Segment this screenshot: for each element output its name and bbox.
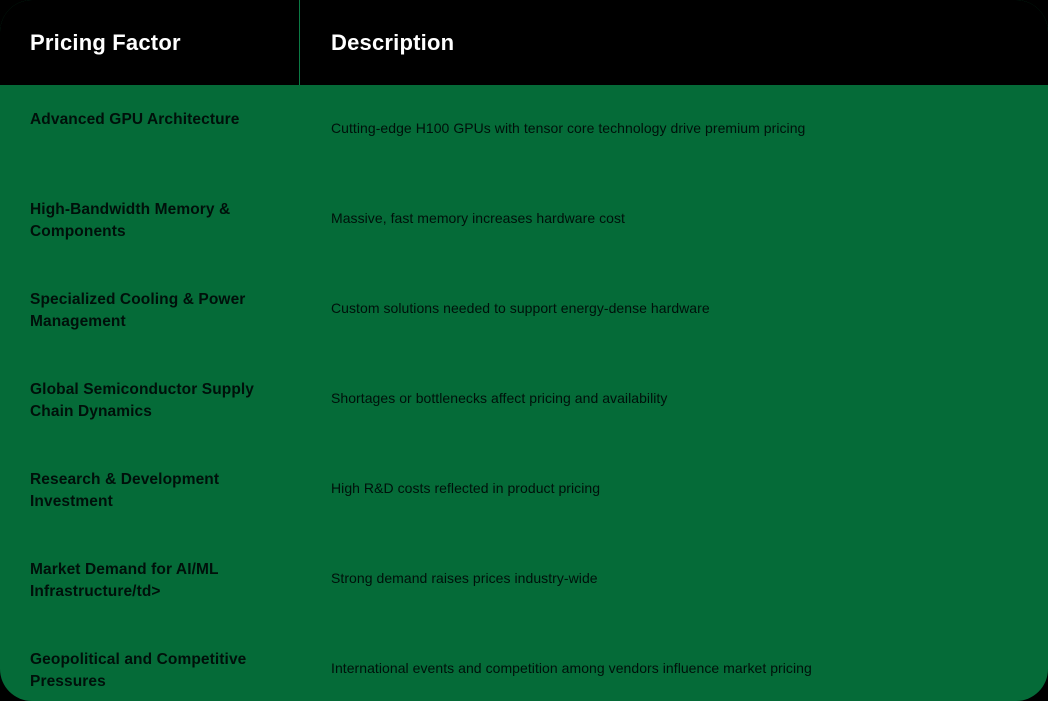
cell-description: Custom solutions needed to support energ…	[300, 265, 1048, 318]
cell-description: International events and competition amo…	[300, 625, 1048, 678]
table-body: Advanced GPU Architecture Cutting-edge H…	[0, 85, 1048, 701]
cell-pricing-factor: Specialized Cooling & Power Management	[0, 265, 300, 333]
cell-pricing-factor: Market Demand for AI/ML Infrastructure/t…	[0, 535, 300, 603]
cell-pricing-factor: High-Bandwidth Memory & Components	[0, 175, 300, 243]
cell-pricing-factor: Research & Development Investment	[0, 445, 300, 513]
cell-pricing-factor: Global Semiconductor Supply Chain Dynami…	[0, 355, 300, 423]
column-header-description: Description	[300, 0, 1048, 85]
cell-description: Strong demand raises prices industry-wid…	[300, 535, 1048, 588]
cell-pricing-factor: Geopolitical and Competitive Pressures	[0, 625, 300, 693]
table-row: Global Semiconductor Supply Chain Dynami…	[0, 355, 1048, 445]
column-header-pricing-factor: Pricing Factor	[0, 0, 300, 85]
cell-description: Shortages or bottlenecks affect pricing …	[300, 355, 1048, 408]
table-row: High-Bandwidth Memory & Components Massi…	[0, 175, 1048, 265]
table-row: Advanced GPU Architecture Cutting-edge H…	[0, 85, 1048, 175]
cell-description: Cutting-edge H100 GPUs with tensor core …	[300, 85, 1048, 138]
cell-pricing-factor: Advanced GPU Architecture	[0, 85, 300, 131]
pricing-factor-table-card: Pricing Factor Description Advanced GPU …	[0, 0, 1048, 701]
table-row: Geopolitical and Competitive Pressures I…	[0, 625, 1048, 701]
cell-description: High R&D costs reflected in product pric…	[300, 445, 1048, 498]
table-header-row: Pricing Factor Description	[0, 0, 1048, 85]
table-row: Market Demand for AI/ML Infrastructure/t…	[0, 535, 1048, 625]
table-row: Research & Development Investment High R…	[0, 445, 1048, 535]
cell-description: Massive, fast memory increases hardware …	[300, 175, 1048, 228]
table-row: Specialized Cooling & Power Management C…	[0, 265, 1048, 355]
